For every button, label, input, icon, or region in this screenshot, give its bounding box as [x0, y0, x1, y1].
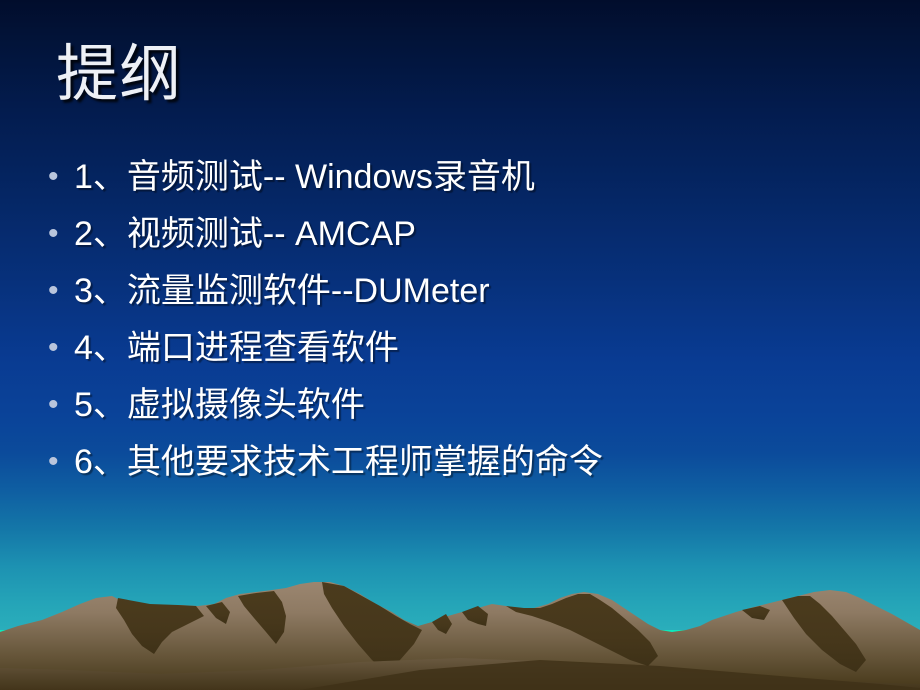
list-item-label: 2、视频测试-- AMCAP: [74, 217, 416, 251]
list-item-label: 5、虚拟摄像头软件: [74, 388, 365, 422]
list-item[interactable]: • 4、端口进程查看软件: [48, 331, 868, 388]
page-title: 提纲: [56, 42, 182, 109]
bullet-list: • 1、音频测试-- Windows录音机 • 2、视频测试-- AMCAP •…: [48, 160, 868, 502]
list-item[interactable]: • 2、视频测试-- AMCAP: [48, 217, 868, 274]
bullet-dot-icon: •: [48, 390, 74, 420]
list-item-label: 6、其他要求技术工程师掌握的命令: [74, 445, 603, 479]
list-item[interactable]: • 6、其他要求技术工程师掌握的命令: [48, 445, 868, 502]
list-item[interactable]: • 1、音频测试-- Windows录音机: [48, 160, 868, 217]
list-item-label: 3、流量监测软件--DUMeter: [74, 274, 490, 308]
list-item-label: 4、端口进程查看软件: [74, 331, 399, 365]
bullet-dot-icon: •: [48, 447, 74, 477]
mountain-range-graphic: [0, 520, 920, 690]
bullet-dot-icon: •: [48, 219, 74, 249]
list-item[interactable]: • 3、流量监测软件--DUMeter: [48, 274, 868, 331]
list-item[interactable]: • 5、虚拟摄像头软件: [48, 388, 868, 445]
presentation-slide: 提纲 • 1、音频测试-- Windows录音机 • 2、视频测试-- AMCA…: [0, 0, 920, 690]
bullet-dot-icon: •: [48, 162, 74, 192]
bullet-dot-icon: •: [48, 276, 74, 306]
bullet-dot-icon: •: [48, 333, 74, 363]
list-item-label: 1、音频测试-- Windows录音机: [74, 160, 535, 194]
